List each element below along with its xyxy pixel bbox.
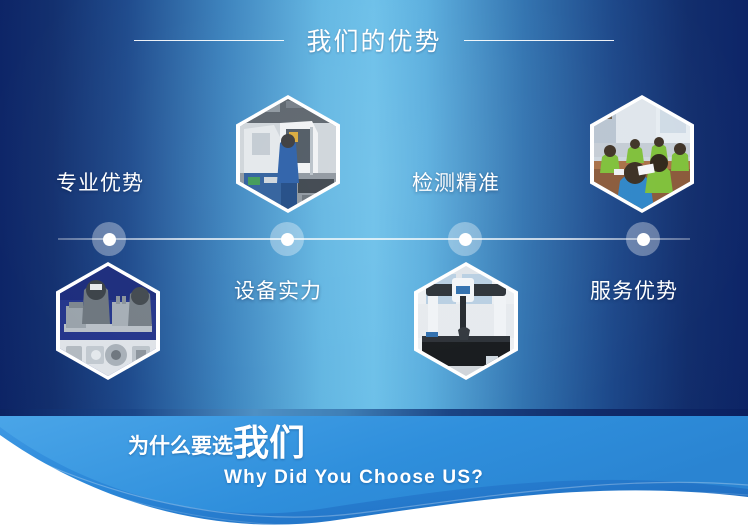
advantages-banner-page: 我们的优势 (0, 0, 748, 531)
cnc-machining-workshop-image (240, 99, 336, 209)
hexagon-photo-team-meeting[interactable] (590, 95, 694, 213)
hexagon-photo-inner (418, 266, 514, 376)
title-rule-left-icon (134, 40, 284, 41)
hexagon-photo-inner (240, 99, 336, 209)
banner-headline-prefix: 为什么要选 (128, 436, 233, 461)
hexagon-photo-cnc-workshop[interactable] (236, 95, 340, 213)
hexagon-photo-inner (60, 266, 156, 376)
page-title: 我们的优势 (306, 22, 441, 58)
banner-headline: 为什么要选 我们 (128, 425, 648, 461)
banner-text-block: 为什么要选 我们 Why Did You Choose US? (128, 425, 648, 489)
timeline-axis (58, 238, 690, 240)
title-rule-right-icon (464, 40, 614, 41)
hexagon-photo-machined-parts[interactable] (56, 262, 160, 380)
feature-label-4: 服务优势 (590, 275, 678, 305)
hexagon-photo-inner (594, 99, 690, 209)
feature-label-3: 检测精准 (412, 167, 500, 197)
timeline-node-3[interactable] (448, 222, 482, 256)
feature-label-1: 专业优势 (56, 167, 144, 197)
section-title-row: 我们的优势 (0, 18, 748, 62)
precision-machined-metal-parts-image (60, 266, 156, 376)
banner-headline-emphasis: 我们 (233, 425, 305, 461)
team-meeting-discussion-image (594, 99, 690, 209)
hexagon-photo-measuring-machine[interactable] (414, 262, 518, 380)
bottom-banner: 为什么要选 我们 Why Did You Choose US? (0, 409, 748, 531)
hero-background: 我们的优势 (0, 0, 748, 409)
timeline-node-2[interactable] (270, 222, 304, 256)
timeline-node-1[interactable] (92, 222, 126, 256)
coordinate-measuring-machine-image (418, 266, 514, 376)
timeline-node-4[interactable] (626, 222, 660, 256)
banner-subtitle: Why Did You Choose US? (224, 467, 648, 489)
feature-label-2: 设备实力 (234, 275, 322, 305)
